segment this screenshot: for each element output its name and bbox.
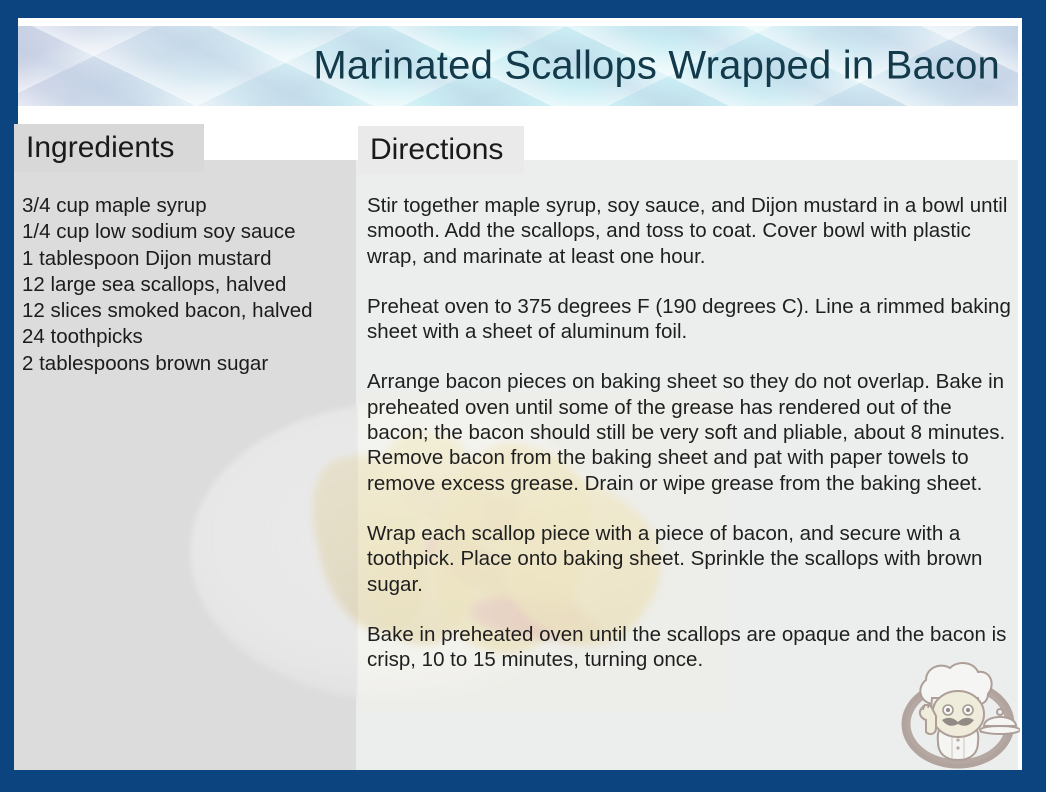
ingredient-item: 12 slices smoked bacon, halved — [22, 298, 352, 324]
directions-heading-tab: Directions — [358, 126, 524, 174]
ingredient-item: 3/4 cup maple syrup — [22, 193, 352, 219]
direction-step: Arrange bacon pieces on baking sheet so … — [367, 369, 1015, 495]
ingredient-item: 24 toothpicks — [22, 324, 352, 350]
ingredients-list: 3/4 cup maple syrup1/4 cup low sodium so… — [22, 193, 352, 377]
ingredient-item: 1 tablespoon Dijon mustard — [22, 246, 352, 272]
recipe-card: Marinated Scallops Wrapped in Bacon Ingr… — [0, 0, 1046, 792]
ingredient-item: 2 tablespoons brown sugar — [22, 351, 352, 377]
direction-step: Stir together maple syrup, soy sauce, an… — [367, 193, 1015, 269]
direction-step: Bake in preheated oven until the scallop… — [367, 622, 1015, 673]
card-border-right — [1022, 0, 1046, 792]
page-title: Marinated Scallops Wrapped in Bacon — [313, 44, 1000, 89]
ingredient-item: 1/4 cup low sodium soy sauce — [22, 219, 352, 245]
directions-heading: Directions — [370, 133, 503, 167]
direction-step: Wrap each scallop piece with a piece of … — [367, 521, 1015, 597]
direction-step: Preheat oven to 375 degrees F (190 degre… — [367, 294, 1015, 345]
directions-list: Stir together maple syrup, soy sauce, an… — [367, 193, 1015, 672]
card-border-bottom — [0, 770, 1046, 792]
ingredients-heading: Ingredients — [26, 131, 174, 165]
card-border-top — [0, 0, 1046, 18]
ingredients-heading-tab: Ingredients — [14, 124, 204, 172]
title-banner: Marinated Scallops Wrapped in Bacon — [18, 26, 1018, 106]
ingredient-item: 12 large sea scallops, halved — [22, 272, 352, 298]
